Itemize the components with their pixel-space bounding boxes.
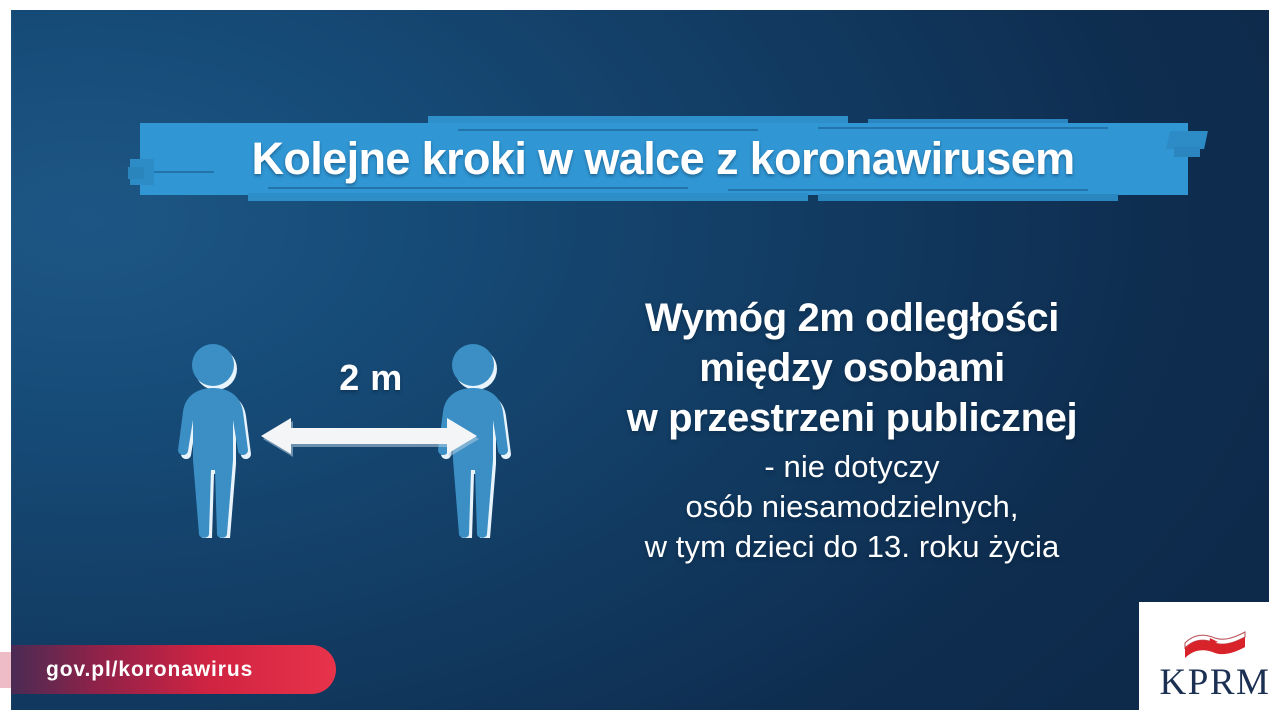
distance-label: 2 m (291, 357, 451, 399)
double-headed-arrow-icon (261, 413, 481, 459)
kprm-logo-text: KPRM (1160, 663, 1269, 703)
infographic-canvas: Kolejne kroki w walce z koronawirusem (0, 0, 1280, 720)
gov-url-label: gov.pl/koronawirus (46, 658, 253, 682)
message-strong-line-1: Wymóg 2m odległości (571, 293, 1133, 343)
person-figure-icon (169, 343, 265, 538)
header-banner: Kolejne kroki w walce z koronawirusem (128, 113, 1198, 205)
page-title: Kolejne kroki w walce z koronawirusem (128, 113, 1198, 205)
message-light-line-1: - nie dotyczy (571, 447, 1133, 487)
message-block: Wymóg 2m odległości między osobami w prz… (571, 293, 1133, 567)
message-strong-line-3: w przestrzeni publicznej (571, 393, 1133, 443)
kprm-logo: KPRM (1139, 602, 1269, 710)
gov-url-badge[interactable]: gov.pl/koronawirus (11, 645, 336, 694)
polish-flag-emblem-icon (1182, 629, 1248, 659)
infographic-stage: Kolejne kroki w walce z koronawirusem (11, 10, 1269, 710)
message-light-line-3: w tym dzieci do 13. roku życia (571, 527, 1133, 567)
message-light-line-2: osób niesamodzielnych, (571, 487, 1133, 527)
message-strong-line-2: między osobami (571, 343, 1133, 393)
social-distancing-pictogram: 2 m (161, 335, 561, 550)
